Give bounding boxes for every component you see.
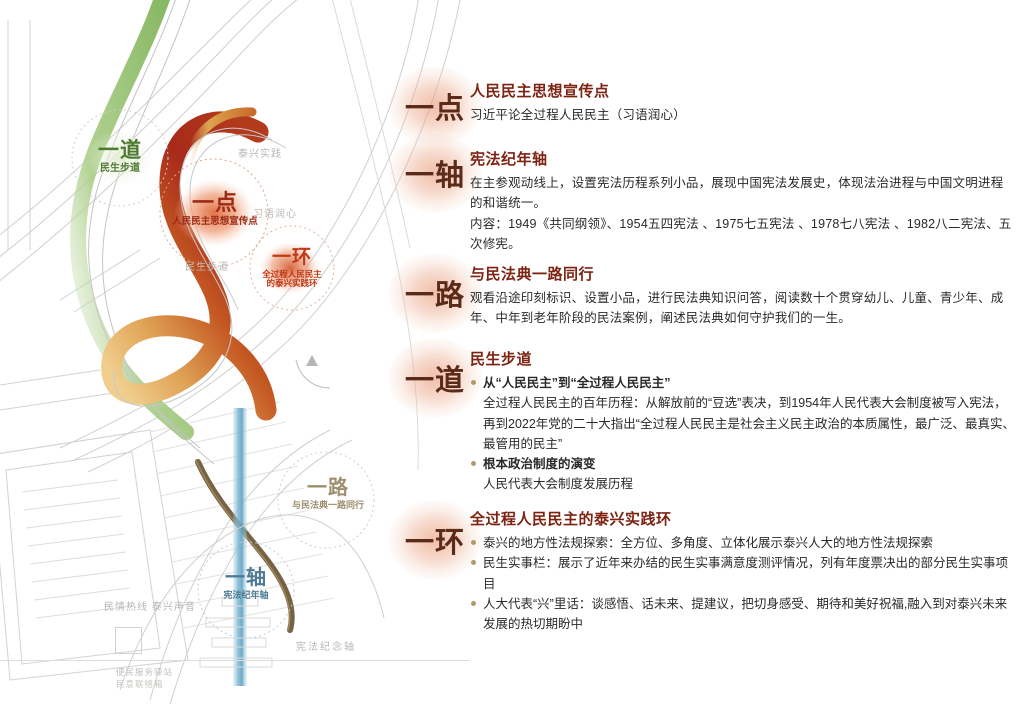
row-yihuan-bullet-2-lead: 人大代表“兴”里话：谈感悟、话未来、提建议，把切身感受、期待和美好祝福,融入到对… [483,597,1007,631]
badge-yizhou-label: 一轴 [405,152,465,194]
row-yizhou-title: 宪法纪年轴 [470,148,1015,169]
badge-yidao-label: 一道 [405,357,465,399]
row-yizhou-para-0: 在主参观动线上，设置宪法历程系列小品，展现中国宪法发展史，体现法治进程与中国文明… [470,173,1015,214]
list-item: 从“人民民主”到“全过程人民民主” 全过程人民民主的百年历程：从解放前的“豆选”… [470,373,1015,454]
list-item: 泰兴的地方性法规探索：全方位、多角度、立体化展示泰兴人大的地方性法规探索 [470,533,1015,553]
plan-node-zhou-small: 宪法纪年轴 [206,591,286,600]
plan-node-lu-big: 一路 [286,478,370,498]
row-yihuan: 全过程人民民主的泰兴实践环 泰兴的地方性法规探索：全方位、多角度、立体化展示泰兴… [470,508,1015,634]
row-yidian: 人民民主思想宣传点 习近平论全过程人民民主（习语润心） [470,80,1015,125]
plan-node-huan-big: 一环 [252,248,332,267]
badge-yidian-label: 一点 [405,85,465,127]
row-yihuan-bullet-1-lead: 民生实事栏：展示了近年来办结的民生实事满意度测评情况，列有年度票决出的部分民生实… [483,556,1008,590]
row-yihuan-bullet-0-lead: 泰兴的地方性法规探索：全方位、多角度、立体化展示泰兴人大的地方性法规探索 [483,536,933,550]
plan-node-dao: 一道 民生步道 [88,140,152,174]
row-yidao: 民生步道 从“人民民主”到“全过程人民民主” 全过程人民民主的百年历程：从解放前… [470,348,1015,495]
row-yizhou: 宪法纪年轴 在主参观动线上，设置宪法历程系列小品，展现中国宪法发展史，体现法治进… [470,148,1015,254]
plan-node-dao-big: 一道 [88,140,152,161]
row-yilu-title: 与民法典一路同行 [470,263,1015,284]
plan-node-zhou-big: 一轴 [206,568,286,588]
plan-node-lu-small: 与民法典一路同行 [286,501,370,510]
content-panel: 一点 人民民主思想宣传点 习近平论全过程人民民主（习语润心） 一轴 宪法纪年轴 … [470,0,1024,724]
plan-node-huan-small: 全过程人民民主 的泰兴实践环 [252,270,332,287]
plan-node-lu: 一路 与民法典一路同行 [286,478,370,510]
plan-node-zhou: 一轴 宪法纪年轴 [206,568,286,600]
row-yilu: 与民法典一路同行 观看沿途印刻标识、设置小品，进行民法典知识问答，阅读数十个贯穿… [470,263,1015,329]
badge-yihuan-label: 一环 [405,519,465,561]
row-yidian-title: 人民民主思想宣传点 [470,80,1015,101]
row-yidao-title: 民生步道 [470,348,1015,369]
constitution-axis-band [233,408,247,686]
row-yidao-bullet-0-lead: 从“人民民主”到“全过程人民民主” [483,376,671,390]
row-yidian-para-0: 习近平论全过程人民民主（习语润心） [470,105,1015,125]
row-yidao-bullet-1-sub: 人民代表大会制度发展历程 [483,474,1015,494]
plan-node-dao-small: 民生步道 [88,164,152,174]
row-yidao-bullets: 从“人民民主”到“全过程人民民主” 全过程人民民主的百年历程：从解放前的“豆选”… [470,373,1015,495]
row-yizhou-para-1: 内容：1949《共同纲领》、1954五四宪法 、1975七五宪法 、1978七八… [470,214,1015,255]
row-yidao-bullet-1-lead: 根本政治制度的演变 [483,457,596,471]
badge-yidao[interactable]: 一道 [387,338,483,418]
row-yilu-para-0: 观看沿途印刻标识、设置小品，进行民法典知识问答，阅读数十个贯穿幼儿、儿童、青少年… [470,288,1015,329]
badge-yilu[interactable]: 一路 [387,253,483,333]
plan-node-dian-big: 一点 [160,192,270,214]
plan-node-huan: 一环 全过程人民民主 的泰兴实践环 [252,248,332,287]
badge-yizhou[interactable]: 一轴 [387,133,483,213]
poster-root: 一道 民生步道 一点 人民民主思想宣传点 一环 全过程人民民主 的泰兴实践环 一… [0,0,1024,724]
row-yihuan-bullets: 泰兴的地方性法规探索：全方位、多角度、立体化展示泰兴人大的地方性法规探索 民生实… [470,533,1015,634]
list-item: 人大代表“兴”里话：谈感悟、话未来、提建议，把切身感受、期待和美好祝福,融入到对… [470,594,1015,635]
plan-baseline [0,660,470,661]
badge-yilu-label: 一路 [405,272,465,314]
list-item: 民生实事栏：展示了近年来办结的民生实事满意度测评情况，列有年度票决出的部分民生实… [470,553,1015,594]
badge-yihuan[interactable]: 一环 [387,500,483,580]
plan-node-dian: 一点 人民民主思想宣传点 [160,192,270,227]
direction-arrow [296,355,330,388]
plan-node-dian-small: 人民民主思想宣传点 [160,217,270,227]
list-item: 根本政治制度的演变 人民代表大会制度发展历程 [470,454,1015,495]
plan-symbol-box [115,627,142,654]
row-yidao-bullet-0-sub: 全过程人民民主的百年历程：从解放前的“豆选”表决，到1954年人民代表大会制度被… [483,393,1015,454]
row-yihuan-title: 全过程人民民主的泰兴实践环 [470,508,1015,529]
